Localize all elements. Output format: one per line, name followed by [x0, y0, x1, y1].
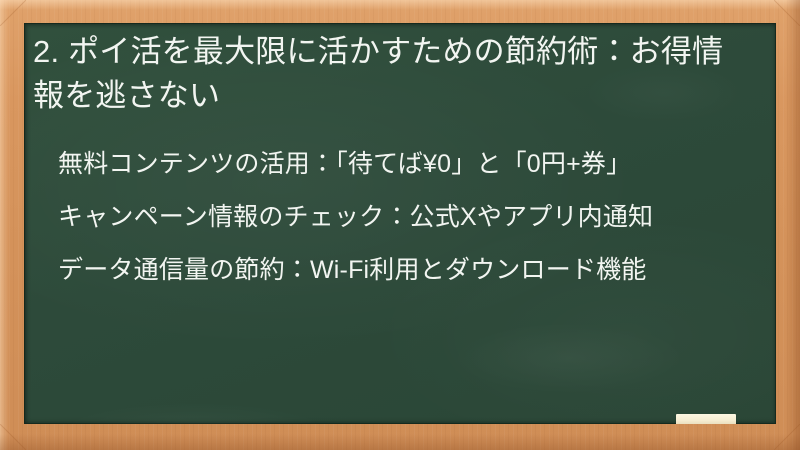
bullet-list: 無料コンテンツの活用：「待てば¥0」と「0円+券」 キャンペーン情報のチェック：… [58, 146, 748, 289]
frame-corner-bottom-right [774, 424, 800, 450]
blackboard-surface: 2. ポイ活を最大限に活かすための節約術：お得情報を逃さない 無料コンテンツの活… [24, 23, 776, 424]
frame-right-shadow [786, 0, 800, 450]
frame-corner-top-left [0, 0, 26, 26]
slide-title: 2. ポイ活を最大限に活かすための節約術：お得情報を逃さない [33, 30, 733, 118]
frame-top-highlight [0, 0, 800, 10]
frame-corner-bottom-left [0, 424, 26, 450]
frame-bottom-shadow [0, 434, 800, 450]
frame-left-highlight [0, 0, 9, 450]
list-item: データ通信量の節約：Wi-Fi利用とダウンロード機能 [58, 252, 748, 289]
blackboard-slide: 2. ポイ活を最大限に活かすための節約術：お得情報を逃さない 無料コンテンツの活… [0, 0, 800, 450]
list-item: キャンペーン情報のチェック：公式Xやアプリ内通知 [58, 199, 748, 236]
chalk-stick-icon [676, 414, 736, 424]
chalk-smudge [454, 323, 684, 393]
list-item: 無料コンテンツの活用：「待てば¥0」と「0円+券」 [58, 146, 748, 183]
frame-corner-top-right [774, 0, 800, 26]
chalk-smudge [64, 403, 324, 424]
